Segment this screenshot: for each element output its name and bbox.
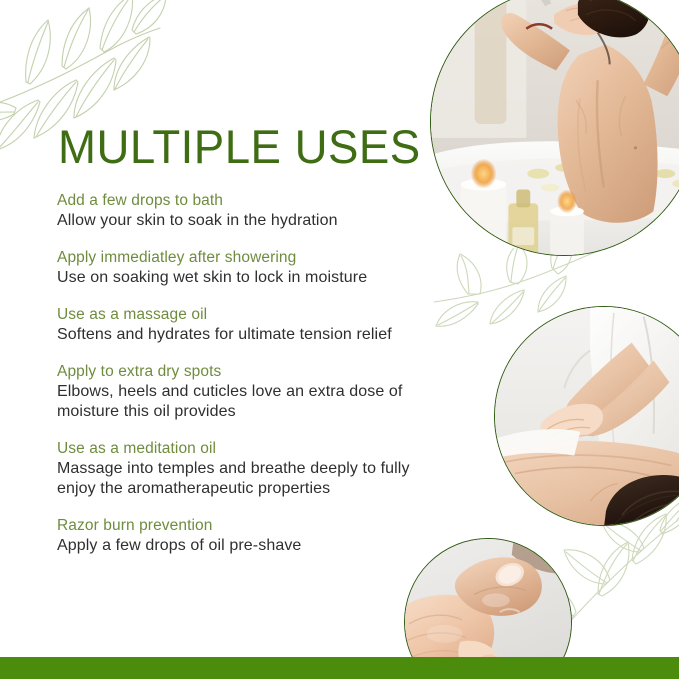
- list-item: Apply immediatley after showering Use on…: [57, 248, 432, 288]
- list-item: Use as a meditation oil Massage into tem…: [57, 439, 432, 499]
- list-item: Razor burn prevention Apply a few drops …: [57, 516, 432, 556]
- use-description: Apply a few drops of oil pre-shave: [57, 536, 432, 556]
- use-description: Allow your skin to soak in the hydration: [57, 211, 432, 231]
- use-title: Add a few drops to bath: [57, 191, 432, 211]
- use-title: Use as a massage oil: [57, 305, 432, 325]
- list-item: Add a few drops to bath Allow your skin …: [57, 191, 432, 231]
- page-title: MULTIPLE USES: [58, 122, 421, 171]
- use-title: Razor burn prevention: [57, 516, 432, 536]
- footer-bar: [0, 657, 679, 679]
- list-item: Use as a massage oil Softens and hydrate…: [57, 305, 432, 345]
- use-description: Elbows, heels and cuticles love an extra…: [57, 382, 432, 422]
- back-massage-photo: [494, 306, 679, 526]
- uses-list: Add a few drops to bath Allow your skin …: [57, 191, 432, 556]
- use-title: Apply to extra dry spots: [57, 362, 432, 382]
- use-description: Use on soaking wet skin to lock in moist…: [57, 268, 432, 288]
- woman-in-bath-photo: [430, 0, 679, 256]
- use-description: Softens and hydrates for ultimate tensio…: [57, 325, 432, 345]
- use-description: Massage into temples and breathe deeply …: [57, 459, 432, 499]
- use-title: Use as a meditation oil: [57, 439, 432, 459]
- use-title: Apply immediatley after showering: [57, 248, 432, 268]
- promo-graphic: MULTIPLE USES Add a few drops to bath Al…: [0, 0, 679, 679]
- list-item: Apply to extra dry spots Elbows, heels a…: [57, 362, 432, 422]
